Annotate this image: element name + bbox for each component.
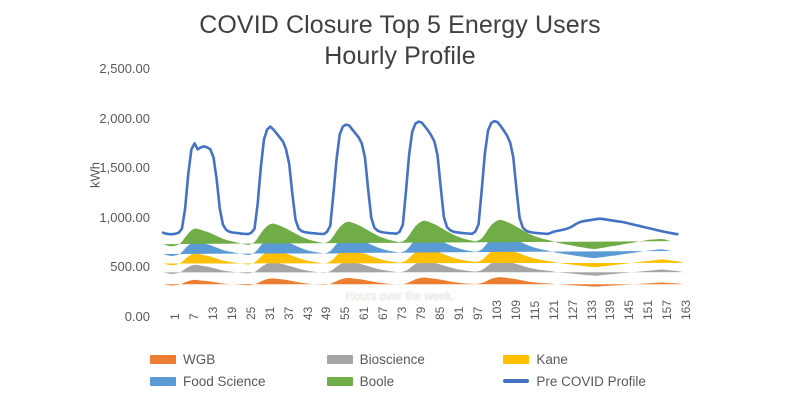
x-axis-tick: 91 bbox=[452, 307, 466, 320]
legend-swatch-icon bbox=[503, 355, 529, 364]
plot-area: 0.00500.001,000.001,500.002,000.002,500.… bbox=[0, 0, 800, 345]
x-axis-tick: 55 bbox=[338, 307, 352, 320]
x-axis-tick: 7 bbox=[187, 313, 201, 320]
x-axis-tick: 67 bbox=[376, 307, 390, 320]
x-axis-tick: 121 bbox=[547, 300, 561, 320]
x-axis-tick: 103 bbox=[490, 300, 504, 320]
line-series-pre-covid-profile bbox=[163, 121, 677, 234]
x-axis-tick: 85 bbox=[433, 307, 447, 320]
legend-item-wgb[interactable]: WGB bbox=[150, 352, 327, 367]
chart-container: COVID Closure Top 5 Energy Users Hourly … bbox=[0, 0, 800, 400]
legend-swatch-icon bbox=[150, 377, 176, 386]
x-axis-tick: 73 bbox=[395, 307, 409, 320]
legend-swatch-icon bbox=[150, 355, 176, 364]
x-axis-tick: 25 bbox=[244, 307, 258, 320]
legend-swatch-icon bbox=[327, 377, 353, 386]
x-axis-tick: 133 bbox=[585, 300, 599, 320]
legend-item-boole[interactable]: Boole bbox=[327, 374, 504, 389]
legend-label: Kane bbox=[536, 352, 568, 367]
area-series-wgb bbox=[163, 277, 684, 287]
legend-label: Pre COVID Profile bbox=[536, 374, 646, 389]
x-axis-tick: 97 bbox=[471, 307, 485, 320]
legend-item-food-science[interactable]: Food Science bbox=[150, 374, 327, 389]
x-axis-tick: 163 bbox=[679, 300, 693, 320]
x-axis-tick: 49 bbox=[319, 307, 333, 320]
legend-swatch-icon bbox=[503, 379, 529, 383]
x-axis-tick: 109 bbox=[509, 300, 523, 320]
x-axis-tick: 43 bbox=[301, 307, 315, 320]
legend-item-bioscience[interactable]: Bioscience bbox=[327, 352, 504, 367]
x-axis-tick: 127 bbox=[566, 300, 580, 320]
x-axis-tick: 115 bbox=[528, 301, 542, 320]
x-axis-tick: 157 bbox=[660, 300, 674, 320]
legend-label: Food Science bbox=[183, 374, 266, 389]
chart-legend: WGBBioscienceKaneFood ScienceBoolePre CO… bbox=[150, 348, 680, 392]
x-axis-tick: 19 bbox=[225, 307, 239, 320]
x-axis-tick: 145 bbox=[622, 300, 636, 320]
legend-label: WGB bbox=[183, 352, 215, 367]
x-axis-tick: 61 bbox=[357, 307, 371, 320]
x-axis-tick: 13 bbox=[206, 307, 220, 320]
x-axis-tick: 139 bbox=[603, 300, 617, 320]
x-axis-title: Hours over the week. bbox=[346, 291, 455, 303]
legend-swatch-icon bbox=[327, 355, 353, 364]
x-axis-tick: 151 bbox=[641, 300, 655, 320]
x-axis-tick: 1 bbox=[168, 313, 182, 320]
x-axis-tick: 37 bbox=[282, 307, 296, 320]
x-axis-tick: 31 bbox=[263, 307, 277, 320]
legend-item-kane[interactable]: Kane bbox=[503, 352, 680, 367]
legend-label: Bioscience bbox=[360, 352, 425, 367]
x-axis-tick: 79 bbox=[414, 307, 428, 320]
legend-label: Boole bbox=[360, 374, 395, 389]
legend-item-pre-covid-profile[interactable]: Pre COVID Profile bbox=[503, 374, 680, 389]
